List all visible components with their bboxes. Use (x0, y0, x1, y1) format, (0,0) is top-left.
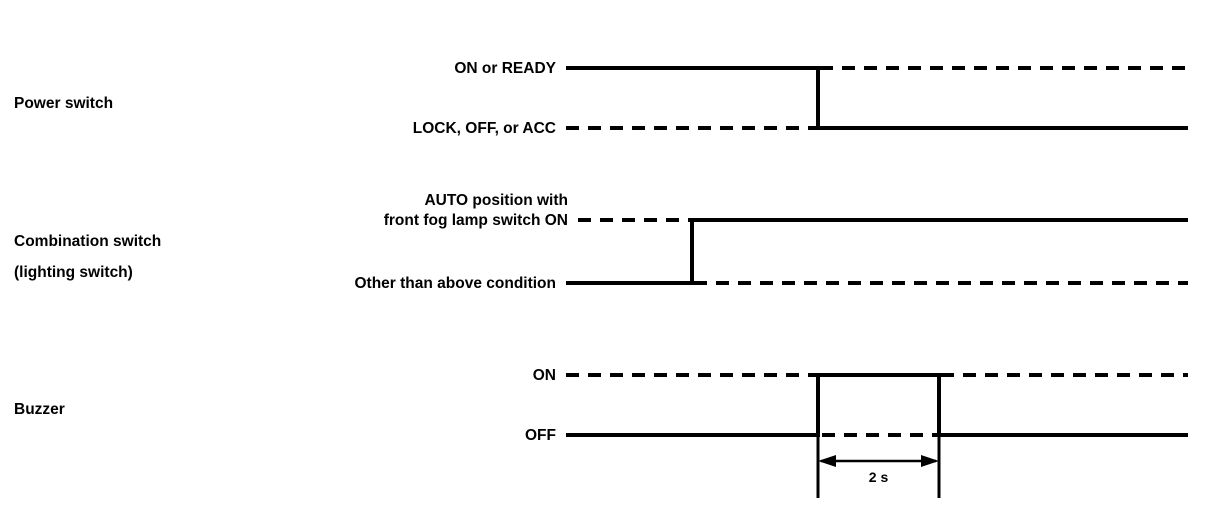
state-label-combination-switch-high-line-1: AUTO position with (0, 191, 568, 211)
duration-label: 2 s (818, 468, 939, 487)
state-label-power-switch-low: LOCK, OFF, or ACC (0, 119, 556, 138)
power-switch-waveform (566, 66, 1188, 130)
state-label-combination-switch-high: AUTO position with front fog lamp switch… (0, 191, 568, 231)
row-label-power-switch: Power switch (14, 94, 113, 113)
row-label-buzzer: Buzzer (14, 400, 65, 419)
row-label-buzzer-line-1: Buzzer (14, 401, 65, 418)
state-label-power-switch-high: ON or READY (0, 59, 556, 78)
duration-arrowhead-right (921, 455, 939, 467)
state-label-buzzer-high: ON (0, 366, 556, 385)
state-label-combination-switch-high-line-2: front fog lamp switch ON (0, 211, 568, 231)
timing-diagram: Power switch Combination switch (lightin… (0, 0, 1216, 512)
state-label-combination-switch-low: Other than above condition (0, 274, 556, 293)
state-label-buzzer-low: OFF (0, 426, 556, 445)
combination-switch-waveform (566, 218, 1188, 285)
duration-arrowhead-left (818, 455, 836, 467)
row-label-power-switch-line-1: Power switch (14, 95, 113, 112)
row-label-combination-switch-line-1: Combination switch (14, 232, 161, 251)
